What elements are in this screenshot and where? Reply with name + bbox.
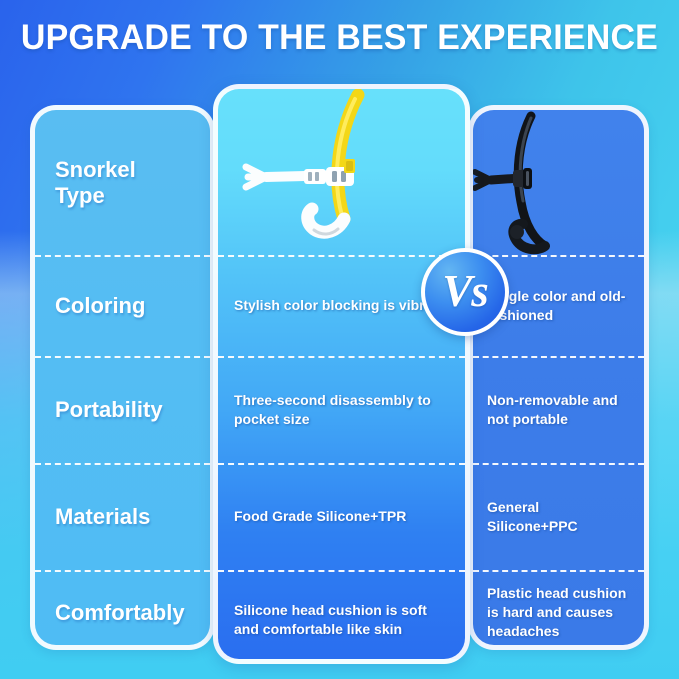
row-label-line1: Snorkel [55,157,136,183]
product-b-materials-text: General Silicone+PPC [473,498,644,536]
product-a-materials-cell: Food Grade Silicone+TPR [218,463,465,570]
row-label-coloring: Coloring [35,255,210,356]
row-label-line2: Type [55,183,136,209]
yellow-snorkel-image [218,89,465,255]
product-b-portability-cell: Non-removable and not portable [473,356,644,463]
row-label-text: Materials [35,504,150,530]
product-a-image-cell [218,89,465,255]
page-title: UPGRADE TO THE BEST EXPERIENCE [21,18,658,58]
comparison-table: Snorkel Type Coloring Portability Materi… [0,76,679,679]
row-label-materials: Materials [35,463,210,570]
product-b-comfortably-cell: Plastic head cushion is hard and causes … [473,570,644,650]
product-a-comfortably-cell: Silicone head cushion is soft and comfor… [218,570,465,664]
row-label-comfortably: Comfortably [35,570,210,650]
row-label-text: Snorkel Type [35,157,136,209]
row-label-text: Comfortably [35,600,185,626]
product-b-materials-cell: General Silicone+PPC [473,463,644,570]
product-a-portability-cell: Three-second disassembly to pocket size [218,356,465,463]
product-b-image-cell [473,110,644,255]
product-a-stack: Stylish color blocking is vibrant Three-… [218,89,465,659]
product-b-portability-text: Non-removable and not portable [473,391,644,429]
black-snorkel-image [473,110,644,255]
row-label-text: Portability [35,397,163,423]
product-b-column: Single color and old-fashioned Non-remov… [468,105,649,650]
product-b-comfortably-text: Plastic head cushion is hard and causes … [473,584,644,641]
versus-label: Vs [442,269,488,314]
row-label-portability: Portability [35,356,210,463]
row-label-text: Coloring [35,293,145,319]
product-a-portability-text: Three-second disassembly to pocket size [218,391,465,429]
row-label-snorkel-type: Snorkel Type [35,110,210,255]
versus-badge: Vs [421,248,509,336]
product-a-materials-text: Food Grade Silicone+TPR [218,507,420,526]
row-label-column: Snorkel Type Coloring Portability Materi… [30,105,215,650]
product-a-column: Stylish color blocking is vibrant Three-… [213,84,470,664]
row-label-stack: Snorkel Type Coloring Portability Materi… [35,110,210,645]
comparison-poster: UPGRADE TO THE BEST EXPERIENCE Snorkel T… [0,0,679,679]
product-a-comfortably-text: Silicone head cushion is soft and comfor… [218,601,465,639]
product-b-stack: Single color and old-fashioned Non-remov… [473,110,644,645]
poster-header: UPGRADE TO THE BEST EXPERIENCE [0,0,679,76]
